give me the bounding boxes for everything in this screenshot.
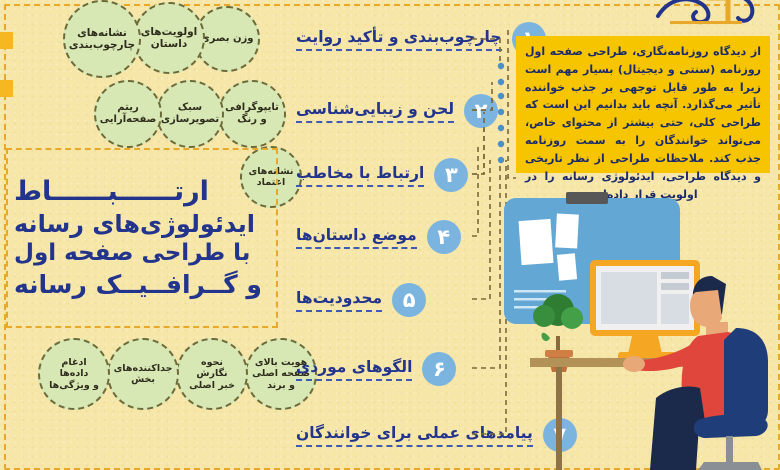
list-item-5[interactable]: ۵ محدودیت‌ها — [296, 283, 426, 317]
bubble-line: نگارش — [196, 368, 227, 379]
step-label-1: چارچوب‌بندی و تأکید روایت — [296, 28, 502, 51]
step-label-2: لحن و زیبایی‌شناسی — [296, 100, 454, 123]
bubble-line: سبک — [178, 102, 202, 113]
bubble-line: نحوه — [201, 357, 223, 368]
bubble-text: سبک تصویرسازی — [161, 102, 219, 126]
list-item-2[interactable]: ۲ لحن و زیبایی‌شناسی — [296, 94, 498, 128]
list-item-4[interactable]: ۴ موضع داستان‌ها — [296, 220, 461, 254]
brand-logo-icon[interactable] — [650, 0, 770, 30]
bubble-text: نحوه نگارش خبر اصلی — [189, 357, 235, 391]
bubble-line: و برند — [267, 380, 295, 391]
bubble-line: بخش — [131, 374, 155, 385]
step-label-6: الگوهای موردی — [296, 358, 412, 381]
bubble-framing-cues[interactable]: نشانه‌های چارچوب‌بندی — [63, 0, 141, 78]
list-item-1[interactable]: ۱ چارچوب‌بندی و تأکید روایت — [296, 22, 546, 56]
bubble-story-priorities[interactable]: اولویت‌های داستان — [133, 2, 205, 74]
bubble-text: جداکننده‌های بخش — [114, 363, 173, 385]
bubble-section-dividers[interactable]: جداکننده‌های بخش — [107, 338, 179, 410]
infographic-canvas: وزن بصری اولویت‌های داستان نشانه‌های چار… — [0, 0, 780, 470]
bubble-text: تایپوگرافی و رنگ — [225, 102, 279, 126]
bubble-line: ریتم — [117, 102, 138, 113]
desk-scene-illustration — [500, 180, 780, 470]
bubble-line: اولویت‌های — [141, 26, 198, 38]
page-title-line-4: و گــرافــیــک رسانه — [14, 269, 262, 302]
page-title: ارتــــــبــــــاط ایدئولوژی‌های رسانه ب… — [6, 148, 278, 328]
summary-note-box: از دیدگاه روزنامه‌نگاری، طراحی صفحه اول … — [516, 36, 770, 173]
list-item-6[interactable]: ۶ الگوهای موردی — [296, 352, 456, 386]
bubble-line: وزن بصری — [201, 33, 254, 44]
step-label-5: محدودیت‌ها — [296, 289, 382, 312]
bubble-line: جداکننده‌های — [114, 363, 173, 374]
bubble-lead-story-writing[interactable]: نحوه نگارش خبر اصلی — [176, 338, 248, 410]
bubble-line: و رنگ — [237, 114, 266, 125]
bubble-text: ادغام داده‌ها و ویژگی‌ها — [49, 357, 99, 391]
page-title-line-2: ایدئولوژی‌های رسانه — [14, 209, 255, 239]
step-number-3: ۳ — [434, 158, 468, 192]
step-label-7: پیامدهای عملی برای خوانندگان — [296, 424, 533, 447]
step-label-3: ارتباط با مخاطب — [296, 164, 424, 187]
bubble-line: نشانه‌های — [77, 27, 127, 39]
step-number-4: ۴ — [427, 220, 461, 254]
bubble-text: اولویت‌های داستان — [141, 26, 198, 51]
step-label-4: موضع داستان‌ها — [296, 226, 417, 249]
bubble-line: چارچوب‌بندی — [69, 39, 135, 51]
bubble-line: تصویرسازی — [161, 114, 219, 125]
monitor-icon — [590, 260, 700, 360]
list-item-3[interactable]: ۳ ارتباط با مخاطب — [296, 158, 468, 192]
step-number-2: ۲ — [464, 94, 498, 128]
bubble-line: خبر اصلی — [189, 380, 235, 391]
page-title-line-1: ارتــــــبــــــاط — [14, 175, 209, 209]
bubble-line: و ویژگی‌ها — [49, 380, 99, 391]
bubble-line: داستان — [151, 38, 188, 50]
bubble-line: ادغام — [61, 357, 86, 368]
bubble-data-feature-integration[interactable]: ادغام داده‌ها و ویژگی‌ها — [38, 338, 110, 410]
bubble-line: تایپوگرافی — [225, 102, 279, 113]
summary-note-text: از دیدگاه روزنامه‌نگاری، طراحی صفحه اول … — [525, 45, 761, 201]
bubble-line: داده‌ها — [60, 368, 89, 379]
edge-tick-1 — [0, 32, 13, 49]
page-title-line-3: با طراحی صفحه اول — [14, 239, 250, 269]
bubble-text: نشانه‌های چارچوب‌بندی — [69, 27, 135, 52]
bubble-text: وزن بصری — [201, 33, 254, 45]
step-number-5: ۵ — [392, 283, 426, 317]
bubble-text: ریتم صفحه‌آرایی — [100, 102, 157, 126]
bubble-layout-rhythm[interactable]: ریتم صفحه‌آرایی — [94, 80, 162, 148]
bubble-line: صفحه‌آرایی — [100, 114, 157, 125]
edge-tick-2 — [0, 80, 13, 97]
bubble-illustration-style[interactable]: سبک تصویرسازی — [156, 80, 224, 148]
bubble-typography-color[interactable]: تایپوگرافی و رنگ — [218, 80, 286, 148]
step-number-6: ۶ — [422, 352, 456, 386]
